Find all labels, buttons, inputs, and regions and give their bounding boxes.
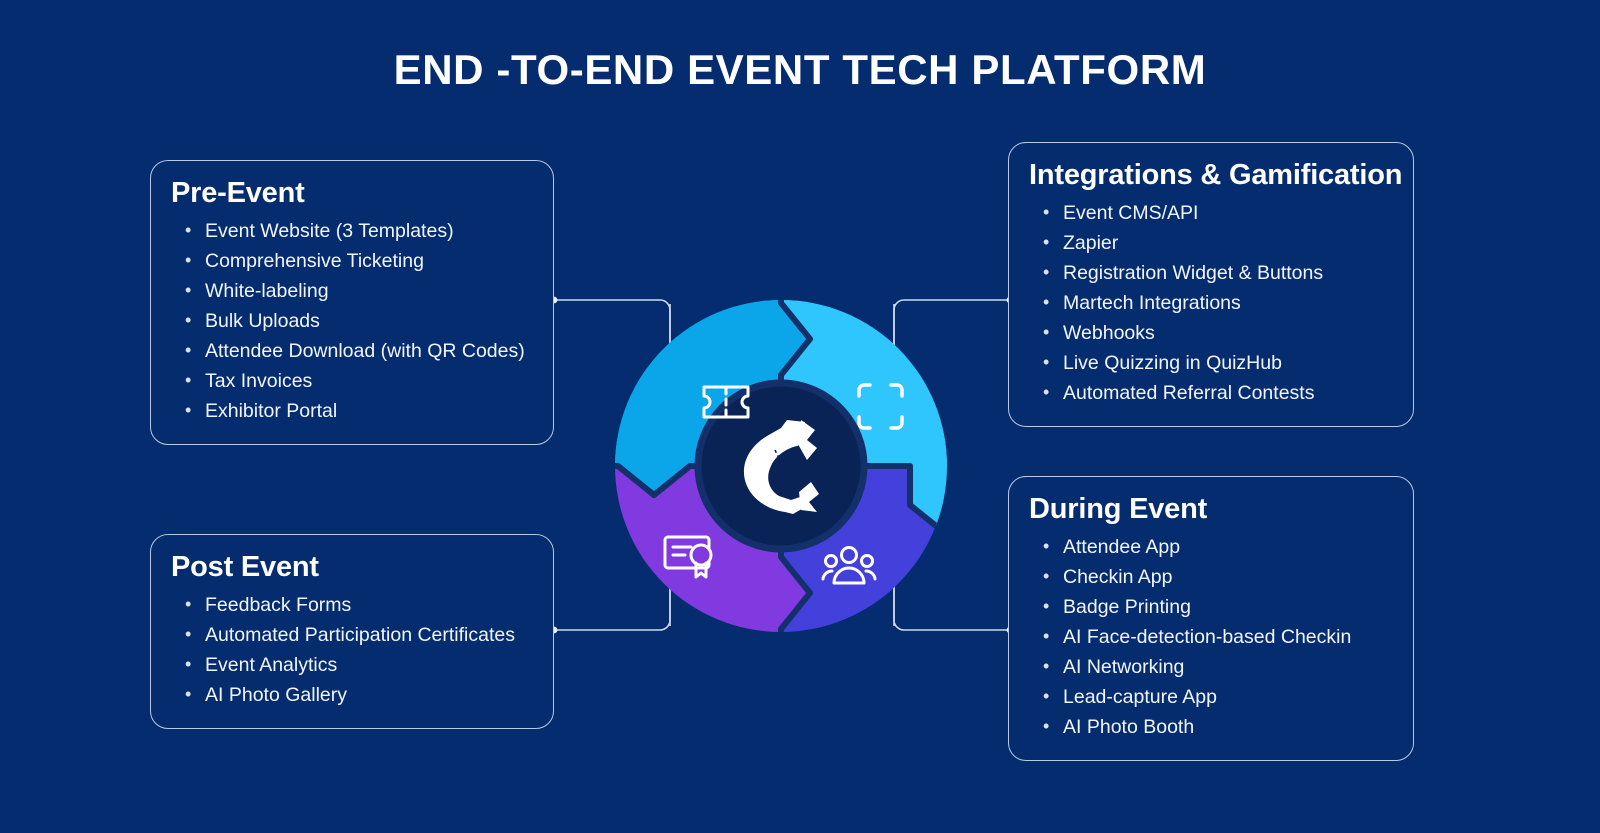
list-item: Attendee Download (with QR Codes): [179, 336, 531, 366]
panel-title-during-event: During Event: [1029, 493, 1391, 526]
panel-title-integrations: Integrations & Gamification: [1029, 159, 1391, 192]
list-item: Bulk Uploads: [179, 306, 531, 336]
list-item: Registration Widget & Buttons: [1037, 258, 1391, 288]
list-item: Automated Referral Contests: [1037, 378, 1391, 408]
list-item: Exhibitor Portal: [179, 396, 531, 426]
panel-integrations-gamification: Integrations & Gamification Event CMS/AP…: [1008, 142, 1414, 427]
list-item: Lead-capture App: [1037, 682, 1391, 712]
list-item: AI Photo Booth: [1037, 712, 1391, 742]
list-item: Event CMS/API: [1037, 198, 1391, 228]
list-item: Attendee App: [1037, 532, 1391, 562]
list-item: AI Face-detection-based Checkin: [1037, 622, 1391, 652]
infographic-canvas: END -TO-END EVENT TECH PLATFORM: [0, 0, 1600, 833]
panel-list-pre-event: Event Website (3 Templates) Comprehensiv…: [171, 216, 531, 426]
list-item: Live Quizzing in QuizHub: [1037, 348, 1391, 378]
list-item: Event Analytics: [179, 650, 531, 680]
list-item: AI Photo Gallery: [179, 680, 531, 710]
panel-pre-event: Pre-Event Event Website (3 Templates) Co…: [150, 160, 554, 445]
list-item: Badge Printing: [1037, 592, 1391, 622]
list-item: Zapier: [1037, 228, 1391, 258]
page-title: END -TO-END EVENT TECH PLATFORM: [0, 46, 1600, 94]
list-item: White-labeling: [179, 276, 531, 306]
panel-during-event: During Event Attendee App Checkin App Ba…: [1008, 476, 1414, 761]
list-item: Tax Invoices: [179, 366, 531, 396]
panel-post-event: Post Event Feedback Forms Automated Part…: [150, 534, 554, 729]
list-item: AI Networking: [1037, 652, 1391, 682]
panel-list-integrations: Event CMS/API Zapier Registration Widget…: [1029, 198, 1391, 408]
list-item: Webhooks: [1037, 318, 1391, 348]
panel-title-post-event: Post Event: [171, 551, 531, 584]
panel-list-post-event: Feedback Forms Automated Participation C…: [171, 590, 531, 710]
panel-list-during-event: Attendee App Checkin App Badge Printing …: [1029, 532, 1391, 742]
list-item: Automated Participation Certificates: [179, 620, 531, 650]
panel-title-pre-event: Pre-Event: [171, 177, 531, 210]
list-item: Feedback Forms: [179, 590, 531, 620]
list-item: Comprehensive Ticketing: [179, 246, 531, 276]
list-item: Martech Integrations: [1037, 288, 1391, 318]
list-item: Checkin App: [1037, 562, 1391, 592]
cycle-wheel-diagram: [610, 295, 952, 637]
list-item: Event Website (3 Templates): [179, 216, 531, 246]
